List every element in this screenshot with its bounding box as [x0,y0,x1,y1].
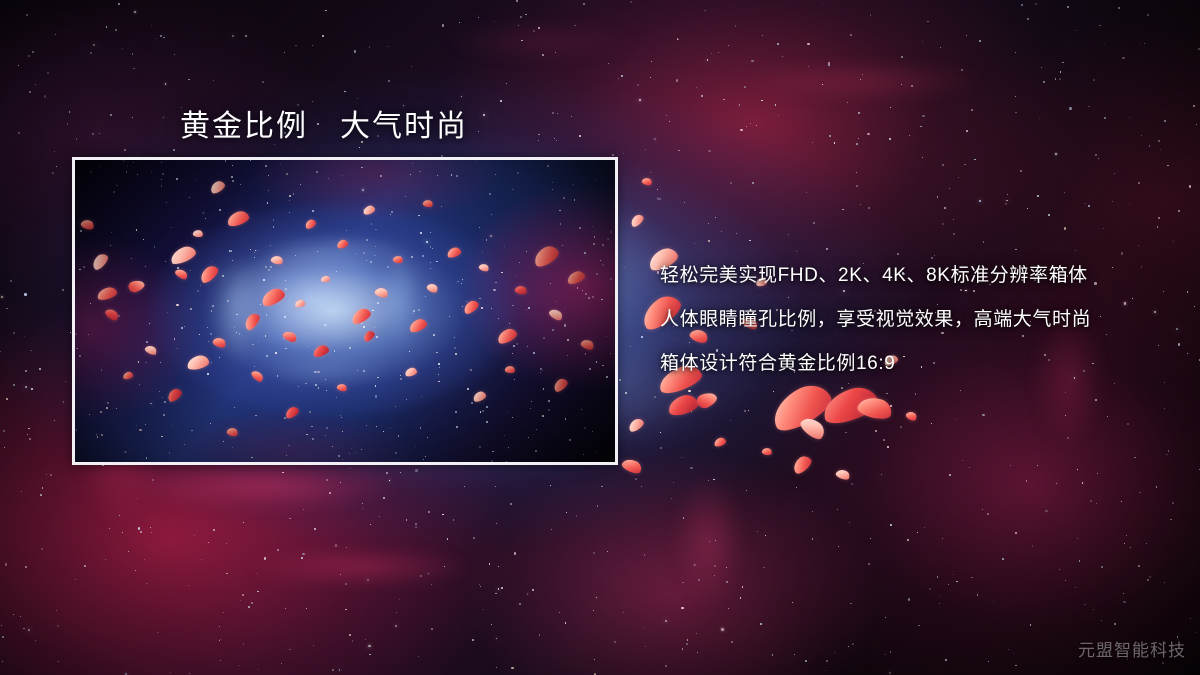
slide-title: 黄金比例 大气时尚 [180,101,468,145]
body-text-block: 轻松完美实现FHD、2K、4K、8K标准分辨率箱体 人体眼睛瞳孔比例，享受视觉效… [660,254,1180,386]
framed-photo [72,157,618,465]
body-line-1: 轻松完美实现FHD、2K、4K、8K标准分辨率箱体 [660,254,1180,298]
presentation-slide: 黄金比例 大气时尚 轻松完美实现FHD、2K、4K、8K标准分辨率箱体 人体眼睛… [0,0,1200,675]
body-line-3: 箱体设计符合黄金比例16:9 [660,342,1180,386]
body-line-2: 人体眼睛瞳孔比例，享受视觉效果，高端大气时尚 [660,298,1180,342]
photo-vignette [75,160,615,462]
watermark-label: 元盟智能科技 [1078,636,1186,661]
